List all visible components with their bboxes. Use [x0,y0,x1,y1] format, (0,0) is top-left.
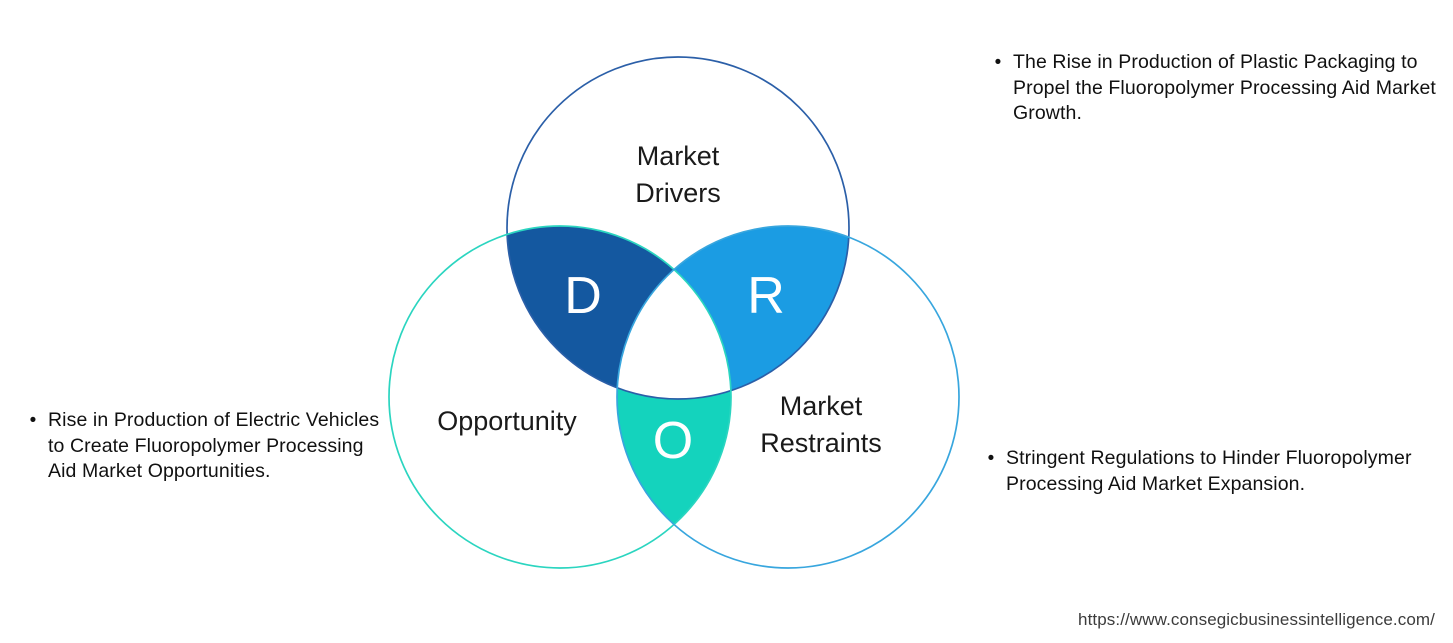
callout-opportunity: • Rise in Production of Electric Vehicle… [28,408,388,485]
slide-canvas: Market Drivers Opportunity Market Restra… [0,0,1453,643]
callout-opportunity-text: Rise in Production of Electric Vehicles … [48,408,388,485]
venn-diagram: Market Drivers Opportunity Market Restra… [340,30,1020,610]
venn-label-drivers-line1: Market [637,141,720,171]
venn-region-opportunity-restraints [340,30,1020,610]
bullet-icon: • [986,446,996,471]
bullet-icon: • [993,50,1003,75]
callout-market-restraints: • Stringent Regulations to Hinder Fluoro… [986,446,1436,497]
venn-label-restraints-line1: Market [780,391,863,421]
callout-market-restraints-text: Stringent Regulations to Hinder Fluoropo… [1006,446,1436,497]
venn-label-restraints-line2: Restraints [760,428,882,458]
venn-letter-d: D [564,267,602,325]
callout-market-drivers: • The Rise in Production of Plastic Pack… [993,50,1443,127]
venn-letter-o: O [653,412,693,470]
callout-market-drivers-text: The Rise in Production of Plastic Packag… [1013,50,1443,127]
venn-label-opportunity-line1: Opportunity [437,406,577,436]
source-url[interactable]: https://www.consegicbusinessintelligence… [1078,609,1435,631]
bullet-icon: • [28,408,38,433]
venn-label-opportunity: Opportunity [437,406,577,436]
venn-letter-r: R [747,267,785,325]
venn-label-drivers-line2: Drivers [635,178,721,208]
venn-diagram-svg: Market Drivers Opportunity Market Restra… [340,30,1020,610]
